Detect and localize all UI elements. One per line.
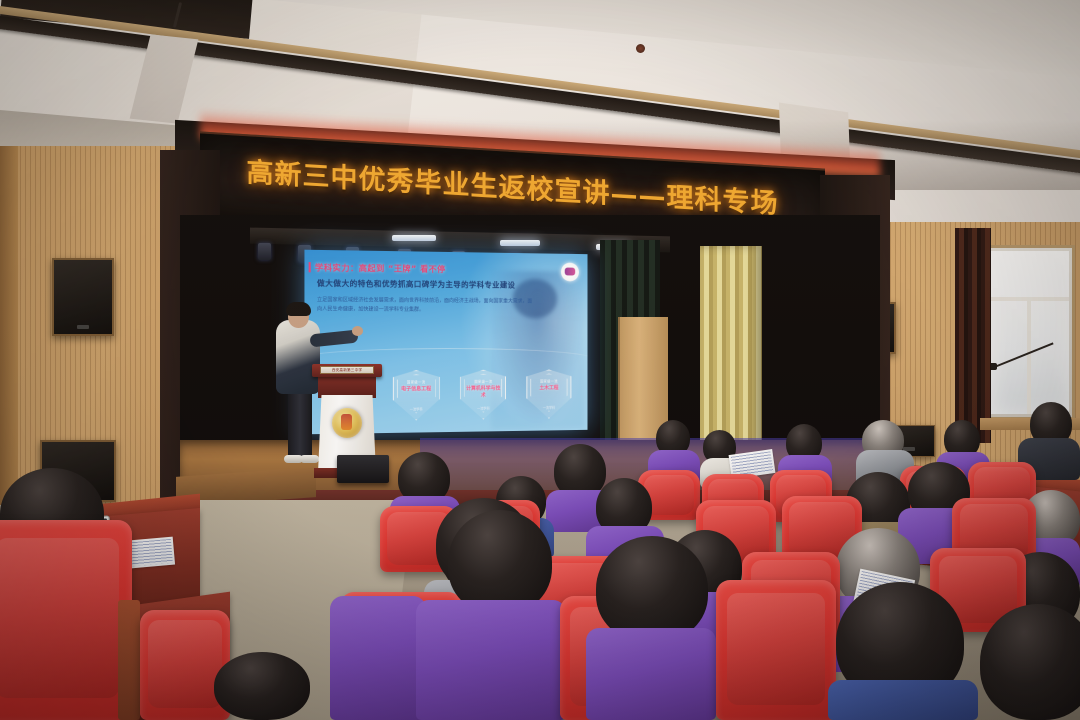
stage-light-bar-1: [392, 235, 436, 241]
shield-main-text: 土木工程: [530, 385, 567, 392]
auditorium-photo: 高新三中优秀毕业生返校宣讲——理科专场 学科实力：高起到 “王牌” 看不停 做大…: [0, 0, 1080, 720]
shield-top-text: 国家级一流: [535, 378, 563, 383]
seat-cushion: [727, 593, 825, 705]
screen-slide-subtitle: 做大做大的特色和优势抓高口碑学为主导的学科专业建设: [317, 278, 515, 291]
podium-nameplate: 西安高新第三中学: [320, 366, 374, 374]
student-head-foreground: [980, 604, 1080, 720]
screen-badge: 国家级一流 土木工程 一流学科: [526, 369, 571, 419]
screen-badge: 国家级一流 计算机科学与技术 一流学科: [460, 370, 506, 420]
student-uniform-foreground: [330, 596, 426, 720]
shield-top-text: 国家级一流: [402, 379, 431, 384]
student-uniform-foreground: [416, 600, 566, 720]
presenter-shoe-right: [300, 455, 319, 463]
seat-cushion: [148, 620, 222, 708]
podium-neck: [318, 376, 376, 398]
podium-school-emblem-icon: [332, 408, 362, 438]
screen-badge: 国家级一流 电子信息工程 一流学科: [393, 370, 440, 421]
shield-main-text: 计算机科学与技术: [464, 386, 502, 399]
auditorium-seat-foreground[interactable]: [0, 520, 132, 720]
auditorium-seat-foreground[interactable]: [140, 610, 230, 720]
paper-lines: [731, 451, 773, 476]
student-uniform-foreground: [586, 628, 716, 720]
presenter-torso: [276, 320, 320, 394]
screen-slide-title: 学科实力：高起到 “王牌” 看不停: [315, 262, 446, 275]
window-glass: [991, 251, 1069, 414]
auditorium-seat-foreground[interactable]: [716, 580, 836, 720]
shield-bottom-text: 一流学科: [399, 406, 434, 411]
window-mullion-vertical: [1027, 297, 1031, 414]
presenter-hand: [352, 326, 363, 336]
seat-cushion: [0, 538, 119, 698]
stage-light-bar-2: [500, 240, 540, 246]
stage-light-icon-1: [258, 243, 271, 260]
shield-main-text: 电子信息工程: [397, 386, 436, 393]
window-curtain: [955, 228, 991, 443]
shield-top-text: 国家级一流: [469, 379, 497, 384]
student-head-foreground: [214, 652, 310, 720]
screen-slide-body: 立足国家和区域经济社会发展需求，面向世界科技前沿，面向经济主战场，面向国家重大需…: [317, 296, 532, 315]
presenter-hair: [286, 302, 311, 316]
presenter-legs: [288, 385, 312, 460]
window-frame: [985, 245, 1075, 420]
shield-bottom-text: 一流学科: [466, 405, 500, 410]
stage-monitor-speaker: [337, 455, 389, 483]
screen-title-accent-bar: [309, 262, 311, 272]
podium-nameplate-text: 西安高新第三中学: [321, 368, 373, 373]
shield-bottom-text: 一流学科: [532, 405, 566, 410]
student-head-foreground: [448, 510, 552, 614]
student-uniform-foreground: [828, 680, 978, 720]
screen-crest-logo-icon: [561, 263, 579, 282]
wall-speaker-upper-left: [52, 258, 114, 336]
student-head-foreground: [596, 536, 708, 642]
ceiling-spot-fixture-icon: [636, 44, 645, 53]
seat-armrest: [118, 600, 140, 720]
